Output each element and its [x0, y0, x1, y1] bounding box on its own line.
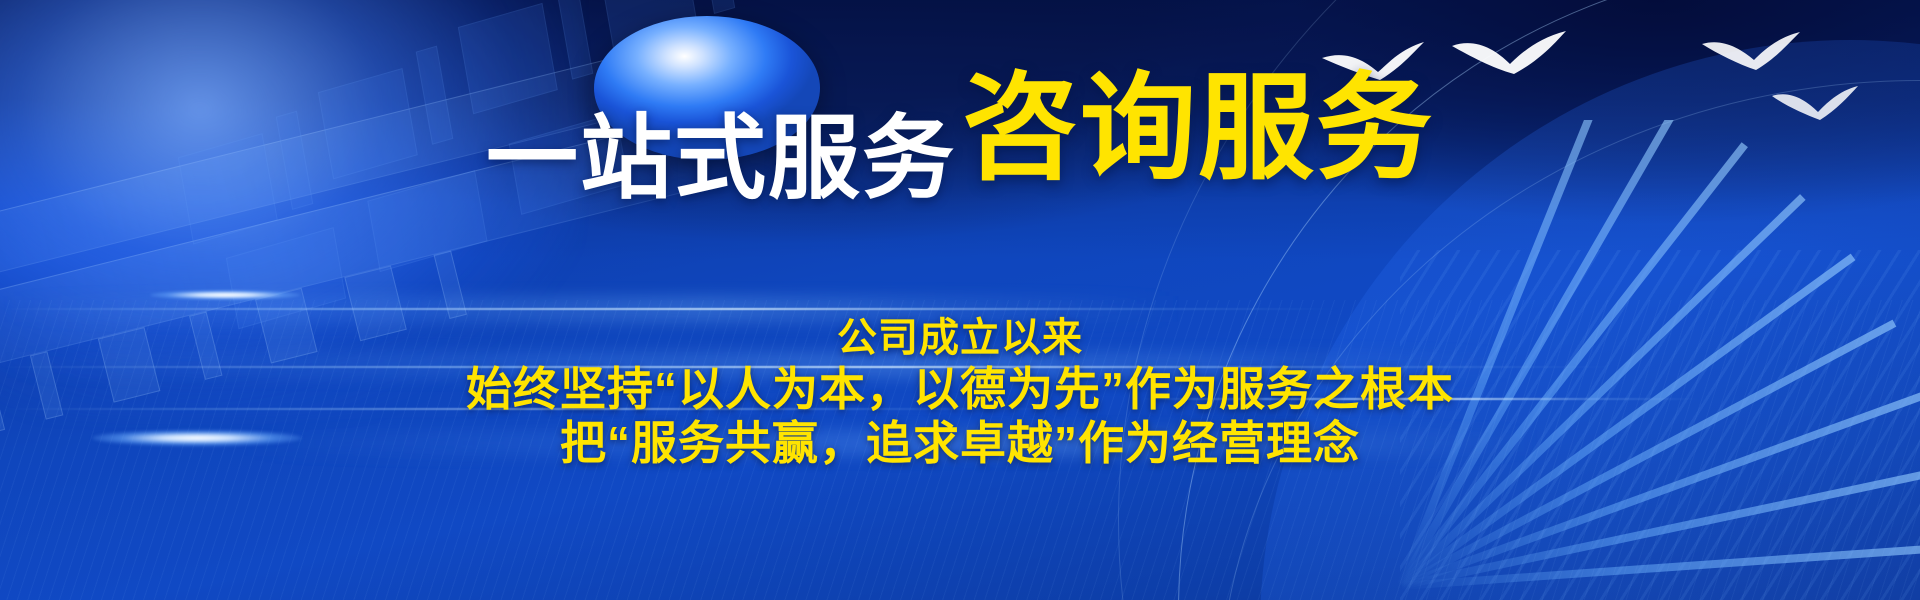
- grid-square: [598, 0, 698, 49]
- background-decorations: [0, 0, 1920, 600]
- body-line-3: 把“服务共赢，追求卓越”作为经营理念: [0, 416, 1920, 470]
- body-line-2: 始终坚持“以人为本，以德为先”作为服务之根本: [0, 362, 1920, 416]
- ribbon-tick: [434, 251, 467, 319]
- light-streak: [0, 308, 1340, 310]
- promo-banner: 一站式服务咨询服务 公司成立以来 始终坚持“以人为本，以德为先”作为服务之根本 …: [0, 0, 1920, 600]
- seagull-icon: [1700, 30, 1810, 74]
- body-text-block: 公司成立以来 始终坚持“以人为本，以德为先”作为服务之根本 把“服务共赢，追求卓…: [0, 315, 1920, 471]
- body-line-1: 公司成立以来: [0, 315, 1920, 362]
- seagull-icon: [1450, 30, 1580, 80]
- grid-square: [556, 0, 594, 80]
- headline: 一站式服务咨询服务: [0, 92, 1920, 208]
- lens-flare: [150, 290, 300, 300]
- grid-square: [226, 227, 346, 329]
- fan-ray: [1400, 543, 1920, 590]
- headline-primary: 一站式服务: [486, 108, 956, 210]
- grid-square: [698, 0, 736, 14]
- headline-accent: 咨询服务: [962, 63, 1434, 193]
- fan-ray: [1399, 466, 1920, 590]
